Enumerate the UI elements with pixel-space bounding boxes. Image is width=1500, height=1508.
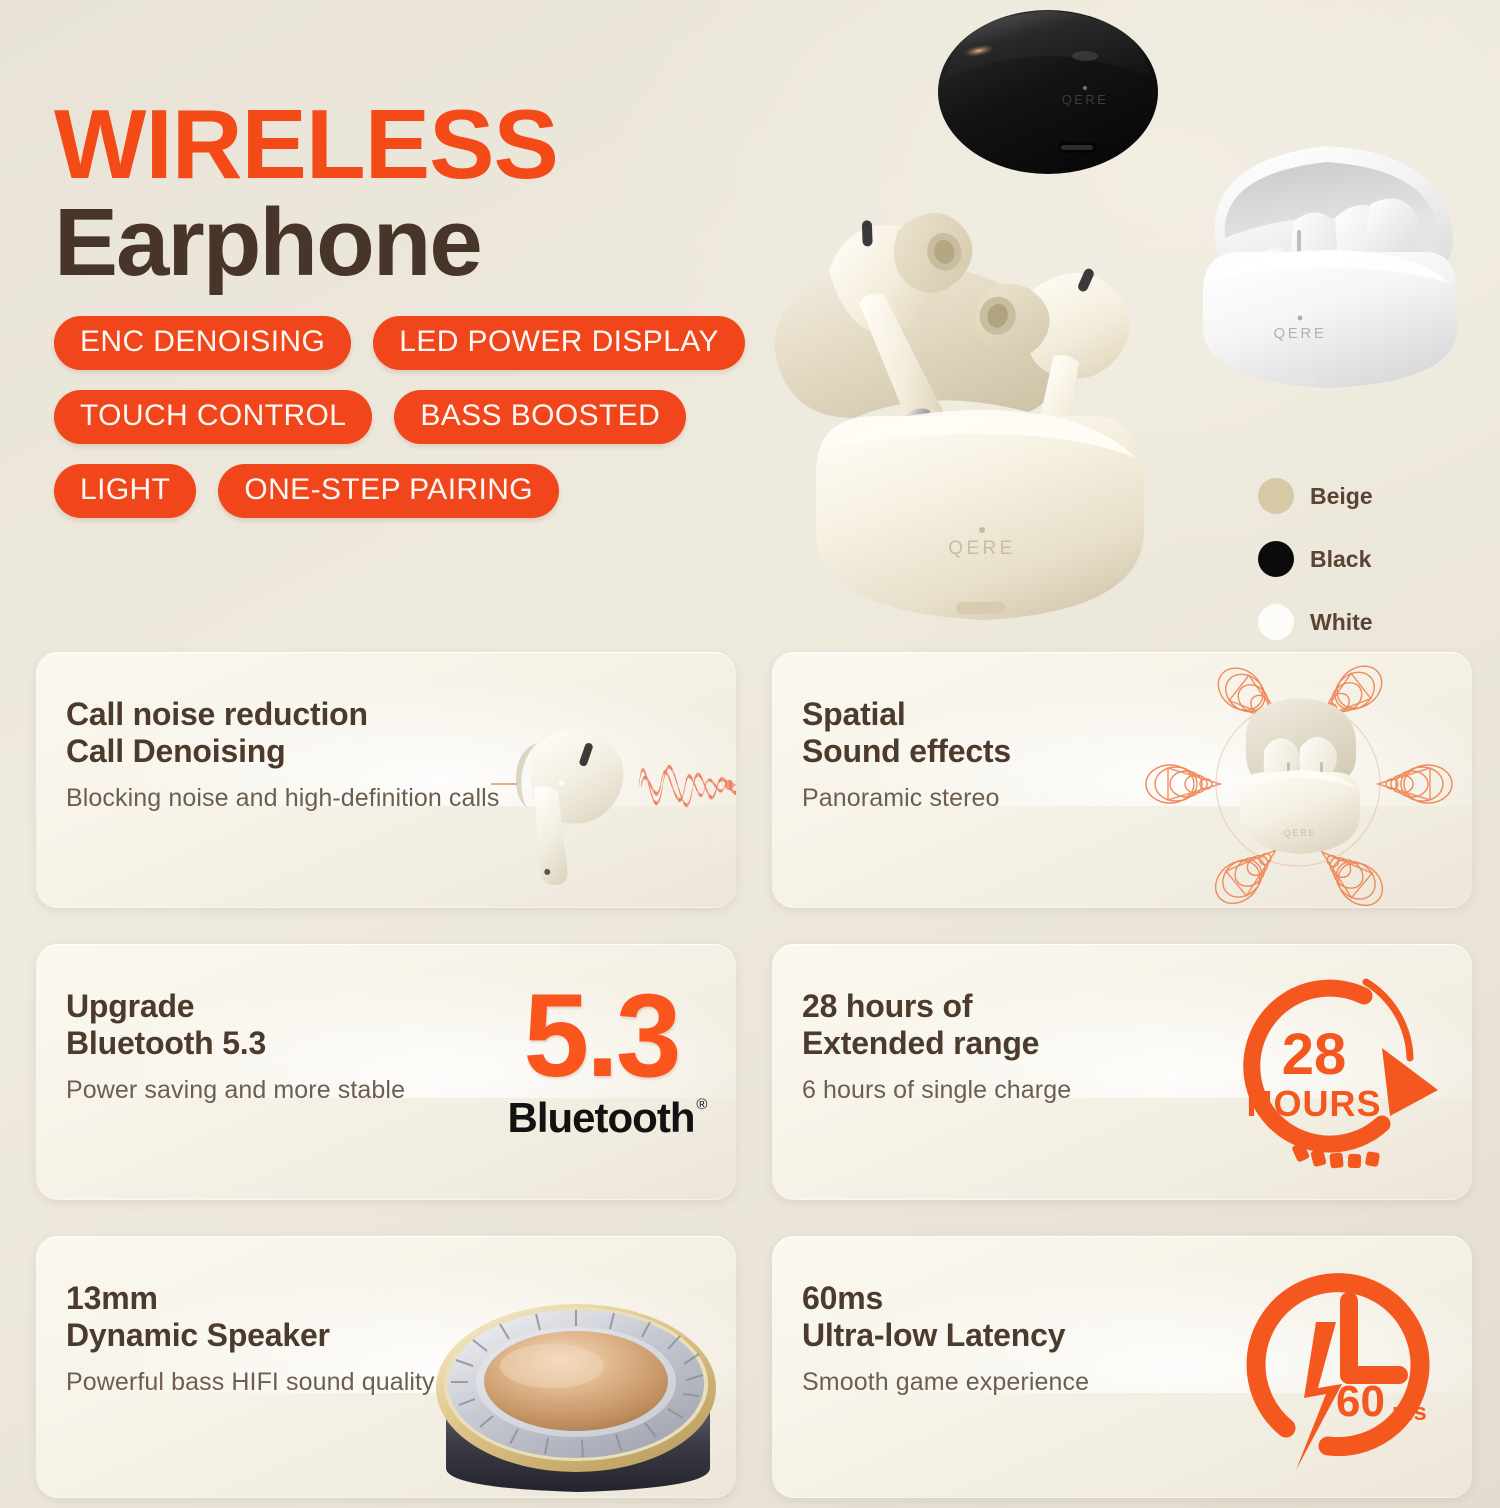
feature-pill-row: TOUCH CONTROL BASS BOOSTED	[54, 390, 774, 444]
card-title: 13mm Dynamic Speaker	[66, 1280, 435, 1354]
feature-card-battery-life: 28 hours of Extended range 6 hours of si…	[772, 944, 1472, 1200]
spatial-sound-art: QERE	[1124, 658, 1472, 908]
colorway-dot-white	[1258, 604, 1294, 640]
headline-block: WIRELESS Earphone ENC DENOISING LED POWE…	[54, 96, 774, 538]
card-title-line1: Spatial	[802, 696, 1011, 733]
svg-text:QERE: QERE	[1062, 92, 1108, 107]
latency-value: 60	[1336, 1377, 1385, 1426]
battery-hours-word: HOURS	[1246, 1083, 1381, 1124]
card-title-line1: 13mm	[66, 1280, 435, 1317]
product-case-beige: QERE	[770, 150, 1190, 640]
colorway-dot-beige	[1258, 478, 1294, 514]
feature-pill: BASS BOOSTED	[394, 390, 686, 444]
card-text: Call noise reduction Call Denoising Bloc…	[66, 696, 499, 813]
sound-waveform	[639, 724, 736, 849]
bluetooth-version-number: 5.3	[491, 980, 711, 1092]
card-title-line2: Ultra-low Latency	[802, 1317, 1089, 1354]
feature-card-dynamic-speaker: 13mm Dynamic Speaker Powerful bass HIFI …	[36, 1236, 736, 1498]
svg-text:QERE: QERE	[1274, 325, 1327, 342]
card-text: 28 hours of Extended range 6 hours of si…	[802, 988, 1071, 1105]
card-subtitle: Panoramic stereo	[802, 784, 1011, 813]
card-title: Upgrade Bluetooth 5.3	[66, 988, 405, 1062]
card-title-line2: Extended range	[802, 1025, 1071, 1062]
feature-pill: ONE-STEP PAIRING	[218, 464, 559, 518]
colorway-item: White	[1258, 604, 1373, 640]
card-title-line1: 60ms	[802, 1280, 1089, 1317]
latency-clock-art: 60 ms	[1220, 1256, 1450, 1481]
registered-trademark-icon: ®	[696, 1096, 707, 1113]
svg-text:QERE: QERE	[948, 538, 1015, 559]
colorway-label: White	[1310, 609, 1373, 636]
bluetooth-logo-art: 5.3 Bluetooth ®	[491, 980, 711, 1142]
battery-cycle-badge-art: 28 HOURS	[1214, 966, 1444, 1186]
feature-card-bluetooth: Upgrade Bluetooth 5.3 Power saving and m…	[36, 944, 736, 1200]
feature-pill-row: ENC DENOISING LED POWER DISPLAY	[54, 316, 774, 370]
battery-hours-number: 28	[1282, 1022, 1347, 1087]
feature-pill: LED POWER DISPLAY	[373, 316, 745, 370]
bluetooth-wordmark: Bluetooth	[508, 1094, 695, 1141]
headline-secondary: Earphone	[54, 194, 774, 292]
svg-text:QERE: QERE	[1284, 828, 1317, 838]
latency-unit: ms	[1392, 1399, 1427, 1426]
card-title-line2: Bluetooth 5.3	[66, 1025, 405, 1062]
card-subtitle: Power saving and more stable	[66, 1076, 405, 1105]
card-text: Upgrade Bluetooth 5.3 Power saving and m…	[66, 988, 405, 1105]
card-title: Spatial Sound effects	[802, 696, 1011, 770]
colorway-item: Beige	[1258, 478, 1373, 514]
card-subtitle: Blocking noise and high-definition calls	[66, 784, 499, 813]
feature-card-low-latency: 60ms Ultra-low Latency Smooth game exper…	[772, 1236, 1472, 1498]
feature-card-spatial-sound: Spatial Sound effects Panoramic stereo	[772, 652, 1472, 908]
card-title-line1: 28 hours of	[802, 988, 1071, 1025]
colorway-item: Black	[1258, 541, 1373, 577]
card-title-line1: Upgrade	[66, 988, 405, 1025]
card-title-line2: Dynamic Speaker	[66, 1317, 435, 1354]
card-title-line2: Sound effects	[802, 733, 1011, 770]
card-subtitle: 6 hours of single charge	[802, 1076, 1071, 1105]
colorway-label: Beige	[1310, 483, 1373, 510]
speaker-driver-art	[418, 1292, 736, 1498]
feature-card-call-denoising: Call noise reduction Call Denoising Bloc…	[36, 652, 736, 908]
card-title-line2: Call Denoising	[66, 733, 499, 770]
card-text: 60ms Ultra-low Latency Smooth game exper…	[802, 1280, 1089, 1397]
feature-pill-list: ENC DENOISING LED POWER DISPLAY TOUCH CO…	[54, 316, 774, 518]
feature-card-grid: Call noise reduction Call Denoising Bloc…	[36, 652, 1466, 1498]
headline-primary: WIRELESS	[54, 96, 774, 192]
colorway-dot-black	[1258, 541, 1294, 577]
earbud-waveform-art	[491, 704, 736, 899]
card-title-line1: Call noise reduction	[66, 696, 499, 733]
card-title: 60ms Ultra-low Latency	[802, 1280, 1089, 1354]
feature-pill: ENC DENOISING	[54, 316, 351, 370]
colorway-label: Black	[1310, 546, 1371, 573]
card-text: 13mm Dynamic Speaker Powerful bass HIFI …	[66, 1280, 435, 1397]
hero-section: WIRELESS Earphone ENC DENOISING LED POWE…	[0, 0, 1500, 640]
card-text: Spatial Sound effects Panoramic stereo	[802, 696, 1011, 813]
feature-pill-row: LIGHT ONE-STEP PAIRING	[54, 464, 774, 518]
card-title: 28 hours of Extended range	[802, 988, 1071, 1062]
feature-pill: LIGHT	[54, 464, 196, 518]
feature-pill: TOUCH CONTROL	[54, 390, 372, 444]
product-case-white: QERE	[1185, 132, 1473, 402]
card-subtitle: Powerful bass HIFI sound quality	[66, 1368, 435, 1397]
colorway-legend: Beige Black White	[1258, 478, 1373, 667]
card-subtitle: Smooth game experience	[802, 1368, 1089, 1397]
card-title: Call noise reduction Call Denoising	[66, 696, 499, 770]
